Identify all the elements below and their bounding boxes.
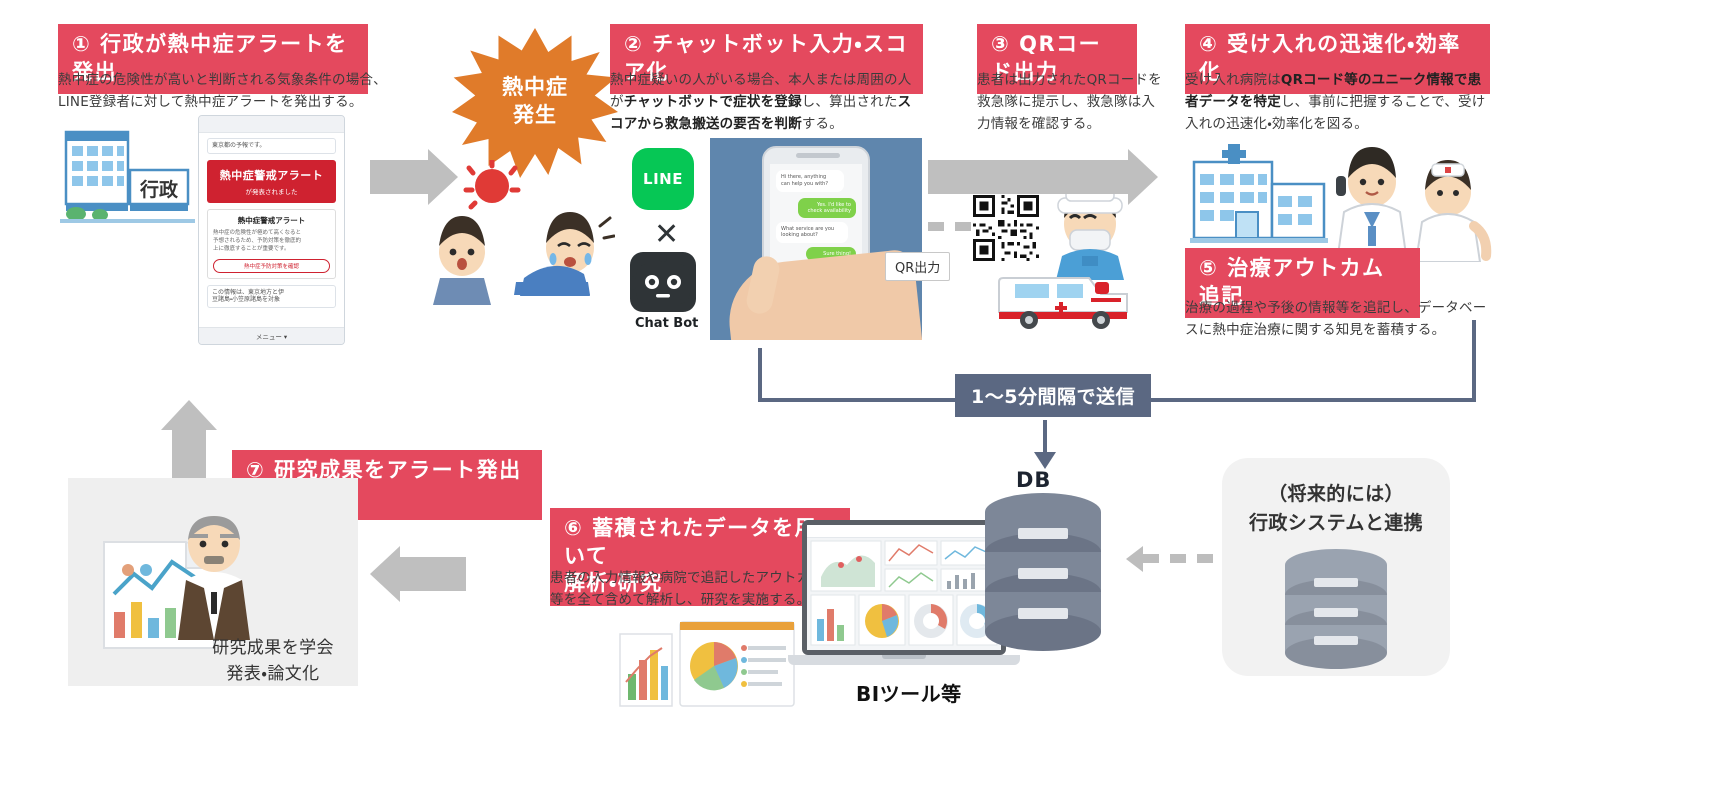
analysis-charts-illustration [618, 620, 798, 710]
phone-card-button[interactable]: 熱中症予防対策を確認 [213, 259, 330, 273]
flow-arrow-3-to-4-shaft [928, 160, 1128, 194]
phone-status-bar [199, 116, 344, 133]
database-cylinder-icon [982, 492, 1104, 670]
flow-arrow-7-head [161, 400, 217, 430]
line-alert-phone-mock: 東京都の予報です。 熱中症警戒アラート が発表されました 熱中症警戒アラート 熱… [198, 115, 345, 345]
researcher-avatar-icon [168, 500, 260, 640]
hospital-staff-illustration [1322, 140, 1500, 262]
future-system-database-icon [1282, 548, 1390, 670]
flow-arrow-3-to-4-head [1128, 149, 1158, 205]
ambulance-illustration [995, 268, 1143, 330]
phone-bottom-bubble: この情報は、東京地方と伊 豆諸島・小笠原諸島を対象 [207, 285, 336, 309]
qr-code-icon [973, 195, 1039, 261]
chatbot-label: Chat Bot [635, 316, 698, 331]
chatbot-icon [630, 252, 696, 312]
phone-top-bubble: 東京都の予報です。 [207, 138, 336, 154]
step-5-body: 治療の過程や予後の情報等を追記し、データベー スに熱中症治療に関する知見を蓄積す… [1185, 298, 1515, 342]
phone-menu-bar[interactable]: メニュー ▾ [199, 327, 344, 344]
hospital-building-icon [1190, 140, 1328, 248]
step-3-body: 患者は出力されたQRコードを 救急隊に提示し、救急隊は入 力情報を確認する。 [977, 70, 1162, 136]
navy-line-left-vertical [758, 348, 762, 401]
bi-tool-label: BIツール等 [856, 678, 962, 707]
navy-line-right-vertical [1472, 320, 1476, 402]
flow-arrow-6-to-research-head [370, 546, 400, 602]
flow-arrow-6-to-research-shaft [400, 557, 466, 591]
navy-arrow-to-db [1034, 452, 1056, 469]
research-output-label: 研究成果を学会 発表・論文化 [178, 636, 368, 687]
svg-text:行政: 行政 [139, 178, 179, 201]
navy-line-db-drop [1043, 420, 1047, 456]
step-1-body: 熱中症の危険性が高いと判断される気象条件の場合、 LINE登録者に対して熱中症ア… [58, 70, 388, 114]
future-link-label: （将来的には） 行政システムと連携 [1222, 480, 1450, 537]
navy-line-right-horizontal [1136, 398, 1476, 402]
phone-info-card: 熱中症警戒アラート 熱中症の危険性が極めて高くなると 予想されるため、予防対策を… [207, 209, 336, 279]
db-label: DB [1016, 468, 1051, 492]
collapsed-people-illustration [420, 160, 615, 305]
cross-icon: ✕ [654, 220, 679, 250]
phone-alert-title: 熱中症警戒アラート [212, 167, 331, 183]
line-app-icon: LINE [632, 148, 694, 210]
phone-alert-sub: が発表されました [212, 186, 331, 196]
step-4-body: 受け入れ病院はQRコード等のユニーク情報で患者データを特定し、事前に把握すること… [1185, 70, 1505, 136]
government-building-icon: 行政 [60, 118, 195, 223]
future-link-dashed-head-left [1126, 546, 1143, 572]
phone-card-body: 熱中症の危険性が極めて高くなると 予想されるため、予防対策を徹底的 上に徹底する… [213, 229, 330, 254]
navy-line-left-horizontal [758, 398, 958, 402]
qr-output-tag: QR出力 [885, 252, 950, 281]
step-2-body: 熱中症疑いの人がいる場合、本人または周囲の人がチャットボットで症状を登録し、算出… [610, 70, 950, 136]
phone-alert-card: 熱中症警戒アラート が発表されました [207, 160, 336, 203]
transmission-interval-label: 1〜5分間隔で送信 [955, 374, 1151, 417]
chatbot-phone-photo: Hi there, anythingcan help you with? Yes… [710, 138, 922, 340]
phone-card-title: 熱中症警戒アラート [213, 215, 330, 226]
heatstroke-burst-label: 熱中症 発生 [452, 73, 618, 130]
